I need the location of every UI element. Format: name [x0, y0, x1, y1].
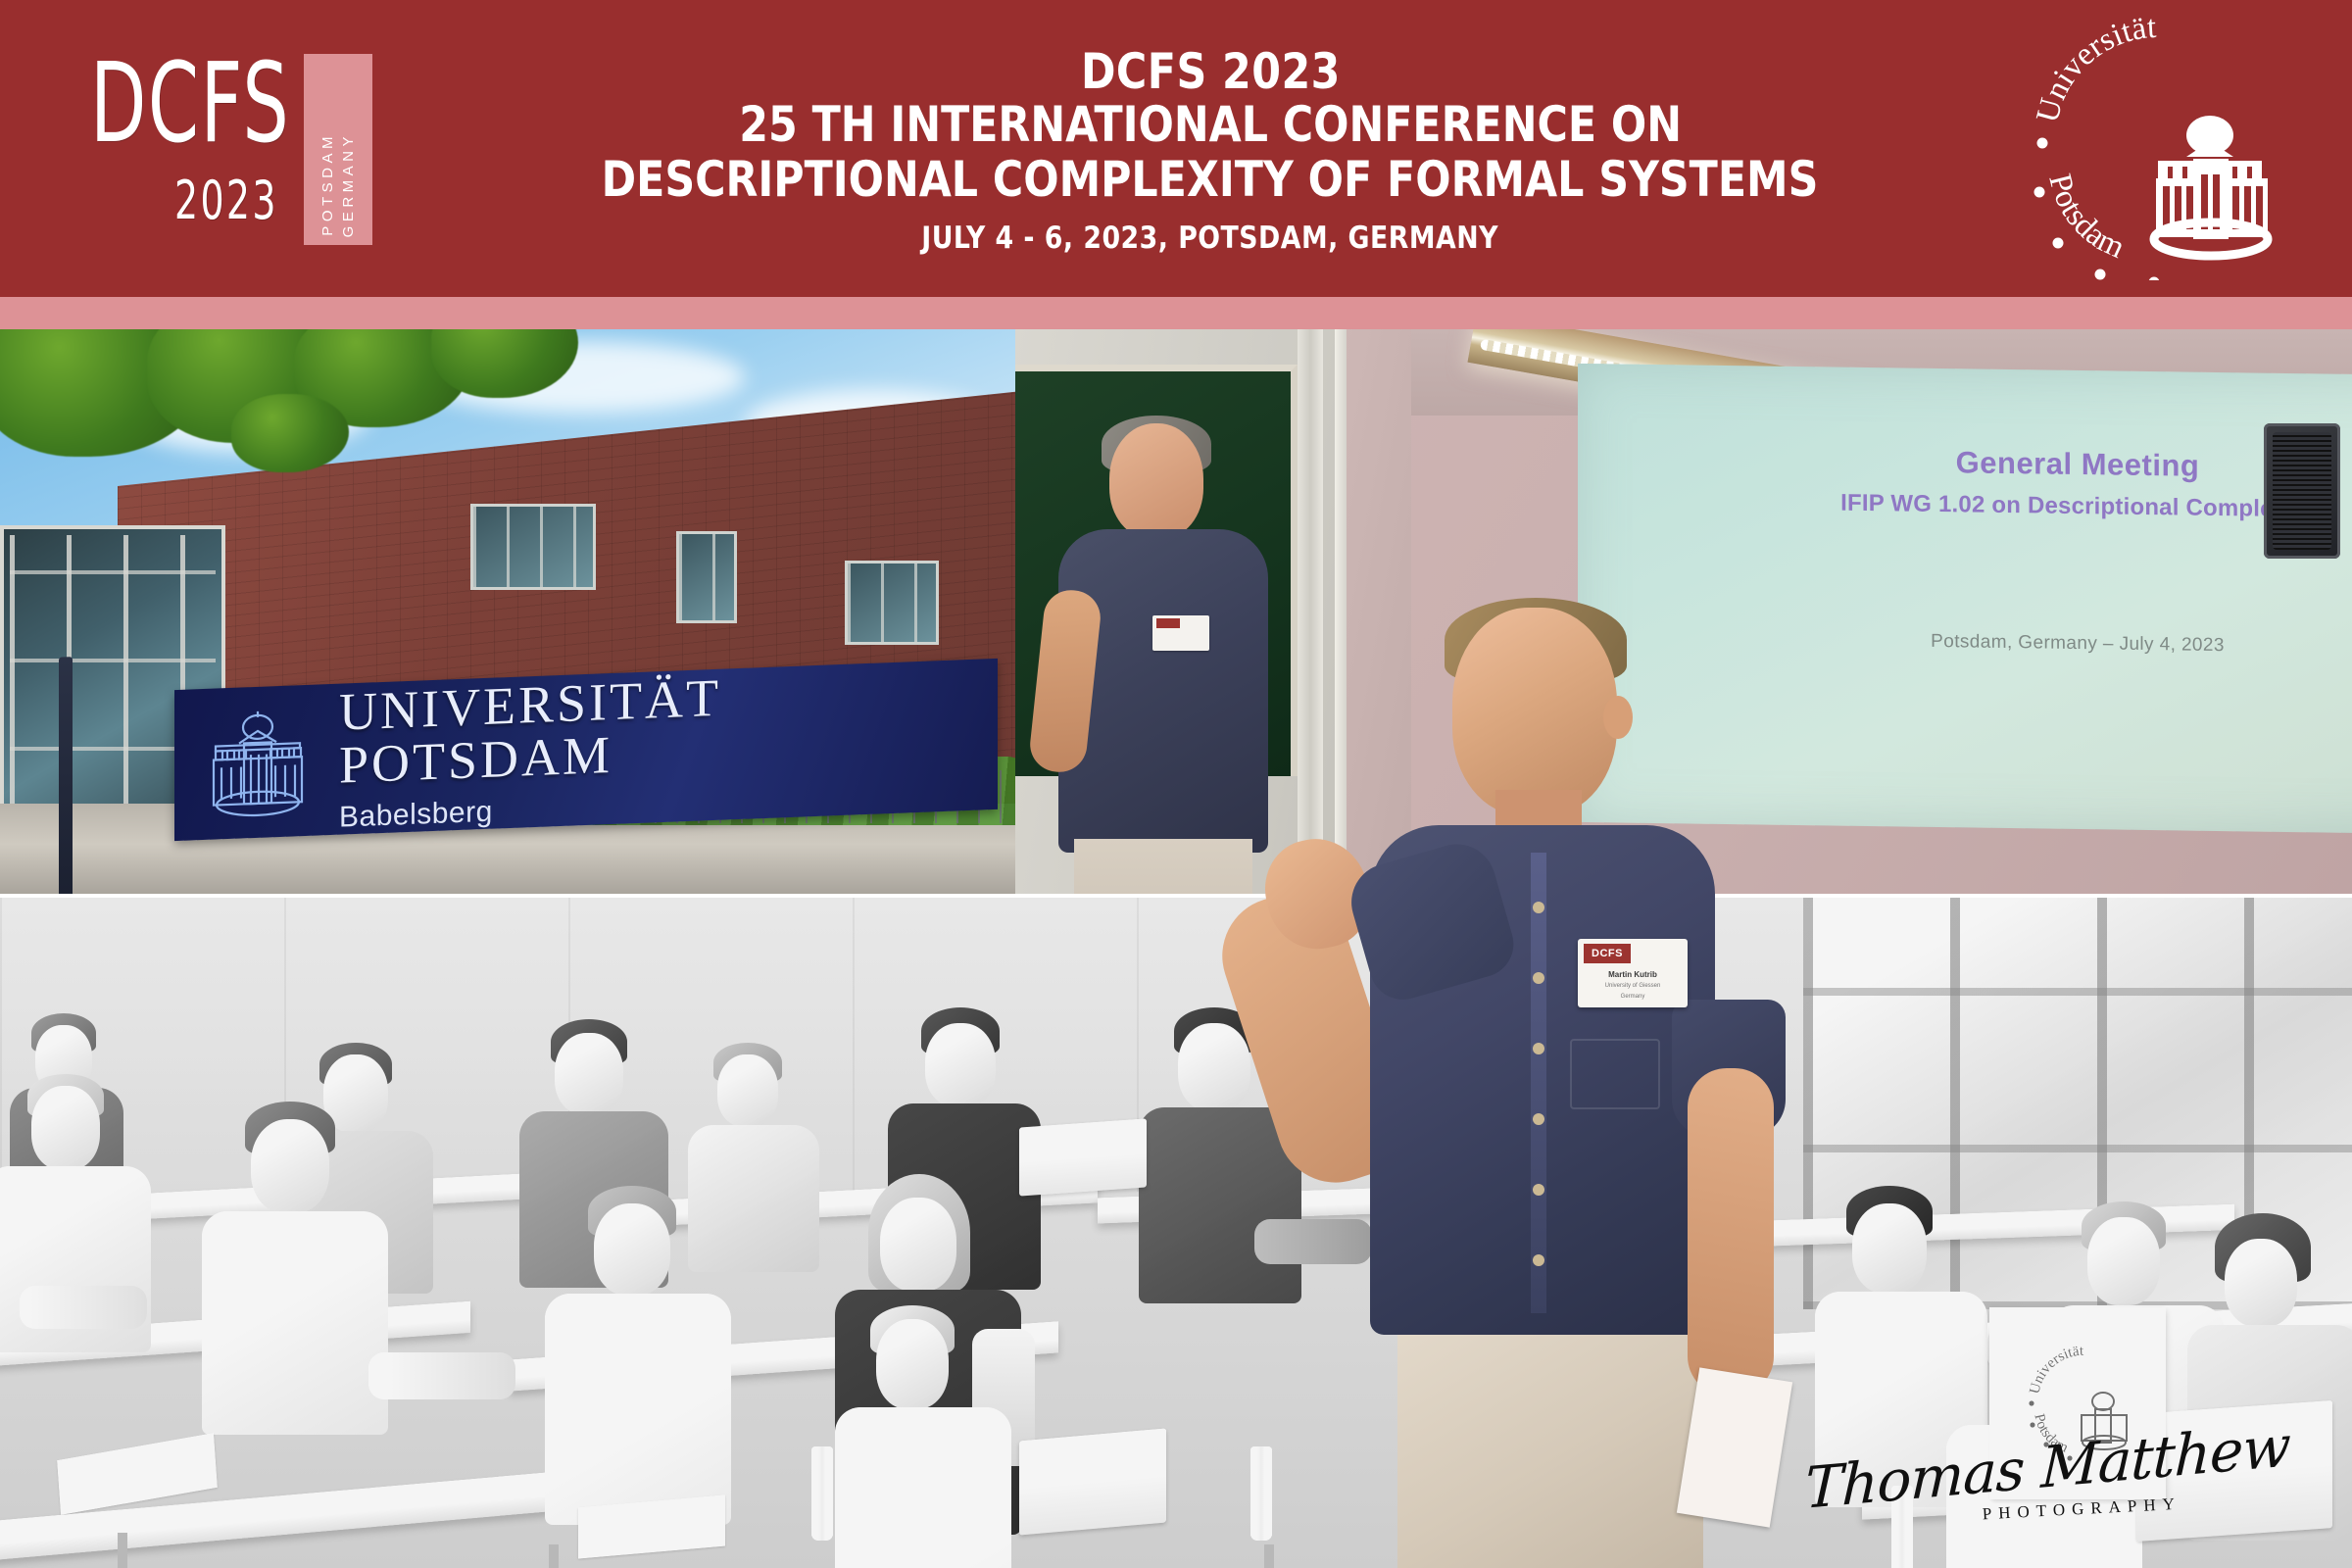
svg-text:Universität: Universität — [2030, 18, 2157, 126]
title-line-3: DESCRIPTIONAL COMPLEXITY OF FORMAL SYSTE… — [602, 152, 1819, 207]
window — [470, 504, 596, 590]
logo-country: GERMANY — [340, 132, 357, 237]
logo-city: POTSDAM — [319, 132, 336, 236]
head — [1452, 608, 1617, 815]
university-building-icon — [200, 704, 316, 822]
logo-acronym: DCFS — [90, 54, 290, 155]
speaker-figure — [1051, 423, 1286, 894]
shirt-button — [1533, 1043, 1544, 1054]
window — [676, 531, 737, 623]
title-line-1: DCFS 2023 — [1081, 46, 1341, 98]
trousers — [1397, 1323, 1703, 1568]
shirt-button — [1533, 1254, 1544, 1266]
badge-name: Martin Kutrib — [1584, 970, 1682, 979]
photographer-signature: Thomas Matthew PHOTOGRAPHY — [1804, 1439, 2291, 1519]
ear — [1603, 696, 1633, 739]
svg-text:Potsdam: Potsdam — [2041, 171, 2130, 266]
wall-loudspeaker-icon — [2264, 423, 2340, 559]
window — [845, 561, 939, 645]
badge-affiliation-2: Germany — [1584, 993, 1682, 1001]
dcfs-logo-block: DCFS 2023 POTSDAM GERMANY — [0, 0, 470, 297]
water-bottle — [1250, 1446, 1272, 1541]
shirt-placket — [1531, 853, 1546, 1313]
shirt-button — [1533, 1113, 1544, 1125]
head — [1109, 423, 1203, 539]
shirt-pocket — [1570, 1039, 1660, 1109]
title-date-line: JULY 4 - 6, 2023, POTSDAM, GERMANY — [922, 220, 1499, 257]
shirt-button — [1533, 1184, 1544, 1196]
accent-divider-bar — [0, 297, 2352, 329]
logo-year: 2023 — [174, 174, 278, 227]
laptop — [1019, 1118, 1147, 1196]
foreground-speaker: DCFS Martin Kutrib University of Giessen… — [1303, 608, 1833, 1568]
lowered-arm — [1688, 1068, 1774, 1396]
shirt-button — [1533, 902, 1544, 913]
conference-title-block: DCFS 2023 25 TH INTERNATIONAL CONFERENCE… — [470, 0, 1980, 297]
desk-leg — [549, 1544, 559, 1568]
logo-location-stack: POTSDAM GERMANY — [307, 132, 369, 242]
trousers — [1074, 839, 1252, 894]
desk-leg — [118, 1533, 127, 1568]
photo-campus-building: UNIVERSITÄT POTSDAM Babelsberg — [0, 329, 1015, 894]
badge-logo: DCFS — [1584, 944, 1631, 963]
campus-sign: UNIVERSITÄT POTSDAM Babelsberg — [174, 659, 998, 841]
university-potsdam-logo-block: Universität Potsdam — [1980, 0, 2352, 297]
slide-subtitle: IFIP WG 1.02 on Descriptional Complexity — [1578, 486, 2352, 527]
university-potsdam-logo-icon: Universität Potsdam — [2009, 18, 2293, 280]
photo-collage-strip: UNIVERSITÄT POTSDAM Babelsberg General M… — [0, 329, 2352, 898]
title-line-2: 25 TH INTERNATIONAL CONFERENCE ON — [739, 97, 1682, 152]
water-bottle — [811, 1446, 833, 1541]
shirt-button — [1533, 972, 1544, 984]
campus-sign-title: UNIVERSITÄT POTSDAM — [339, 661, 972, 792]
desk-leg — [1264, 1544, 1274, 1568]
laptop — [1019, 1428, 1166, 1535]
slide-title: General Meeting — [1578, 440, 2352, 489]
svg-text:Universität: Universität — [2027, 1345, 2084, 1396]
name-badge — [1152, 615, 1209, 651]
banner-header: DCFS 2023 POTSDAM GERMANY DCFS 2023 25 T… — [0, 0, 2352, 297]
name-badge: DCFS Martin Kutrib University of Giessen… — [1578, 939, 1688, 1007]
badge-affiliation-1: University of Giessen — [1584, 982, 1682, 990]
